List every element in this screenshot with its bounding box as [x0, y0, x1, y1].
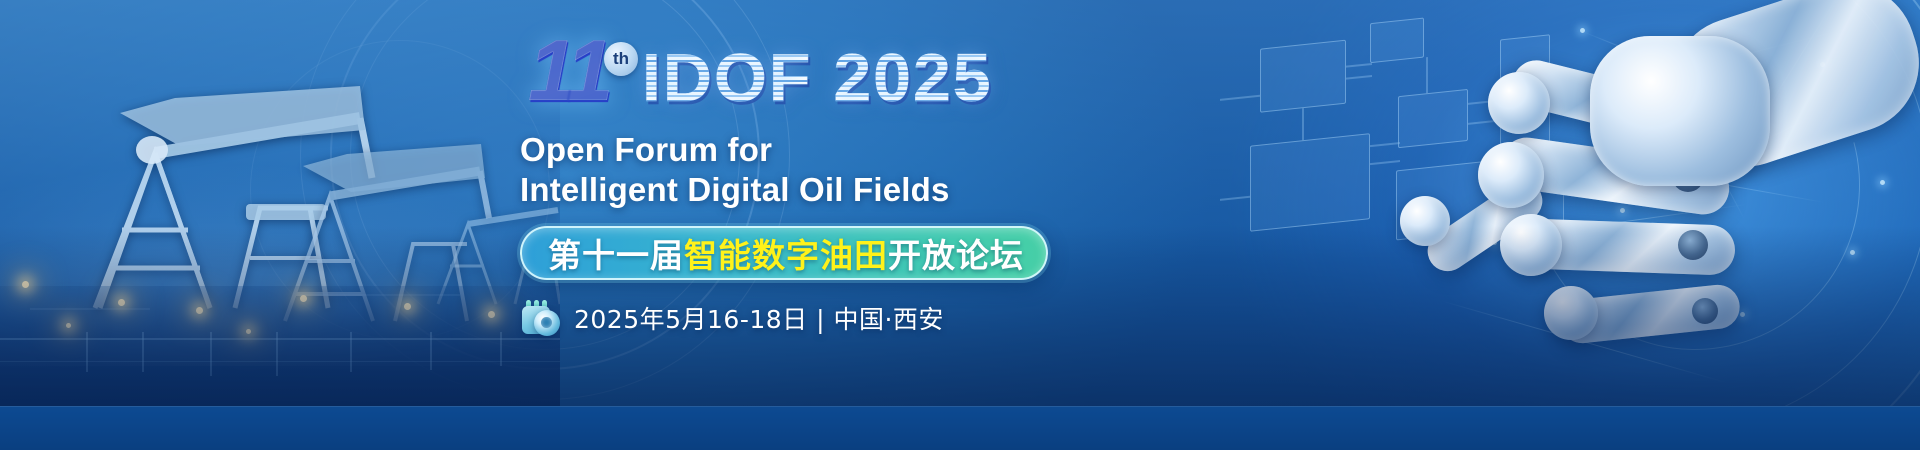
chinese-title-pill: 第十一届 智能数字油田 开放论坛 [520, 226, 1048, 280]
logo-row: 11 th IDOF 2025 [520, 28, 1160, 124]
edition-number: 11 [528, 28, 609, 114]
event-banner: 11 th IDOF 2025 Open Forum for Intellige… [0, 0, 1920, 450]
banner-content: 11 th IDOF 2025 Open Forum for Intellige… [520, 28, 1160, 338]
calendar-camera-icon [520, 298, 562, 338]
subtitle-line-2: Intelligent Digital Oil Fields [520, 170, 1160, 210]
subtitle-block: Open Forum for Intelligent Digital Oil F… [520, 130, 1160, 210]
date-location-bar: 2025年5月16-18日 | 中国·西安 [520, 298, 1160, 338]
logo-text: IDOF 2025 [642, 42, 993, 114]
pill-suffix: 开放论坛 [888, 229, 1024, 277]
date-location-text: 2025年5月16-18日 | 中国·西安 [574, 300, 944, 336]
footer-bar [0, 406, 1920, 450]
subtitle-line-1: Open Forum for [520, 131, 772, 168]
pill-prefix: 第十一届 [548, 229, 684, 277]
pill-highlight: 智能数字油田 [684, 229, 888, 277]
edition-suffix-badge: th [604, 42, 638, 76]
